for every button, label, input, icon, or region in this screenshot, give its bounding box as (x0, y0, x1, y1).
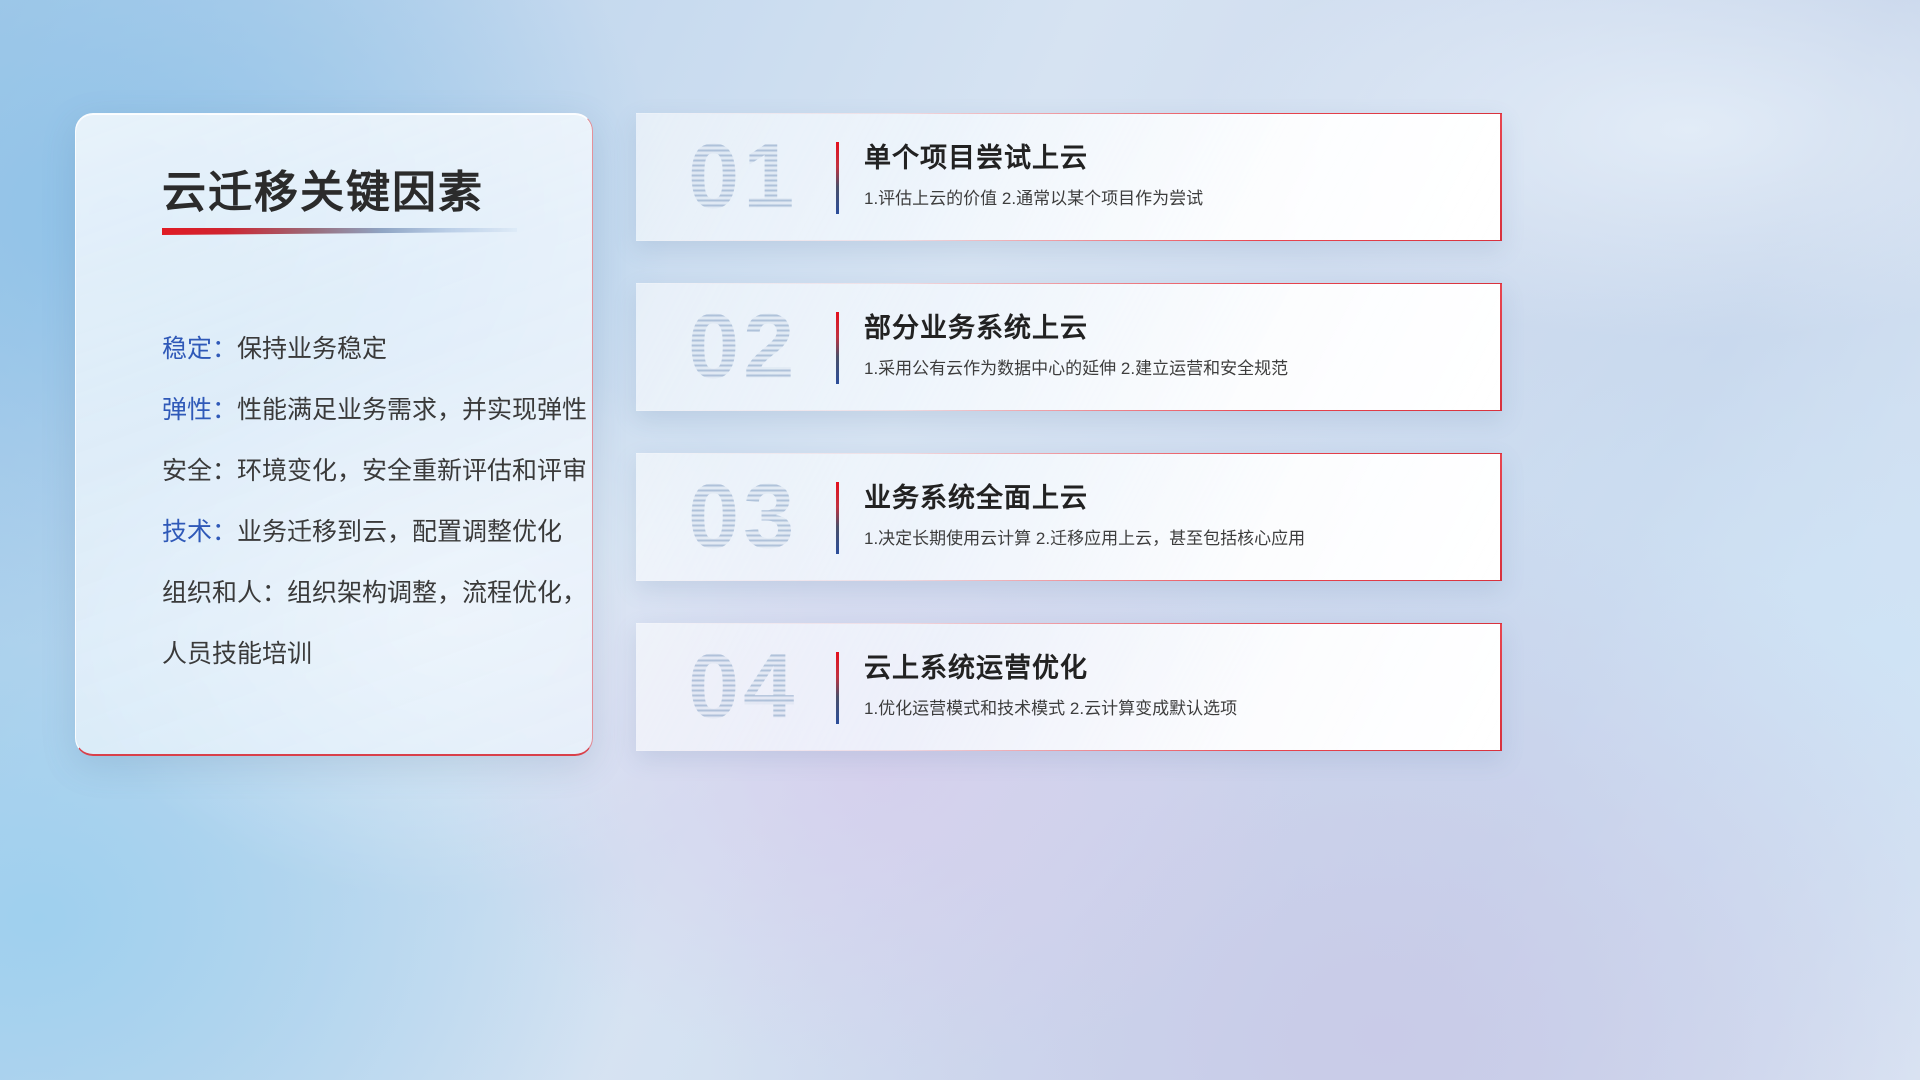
factor-item: 稳定：保持业务稳定 (76, 319, 592, 380)
step-number-watermark: 04 (688, 635, 798, 740)
step-card[interactable]: 0303业务系统全面上云1.决定长期使用云计算 2.迁移应用上云，甚至包括核心应… (636, 453, 1502, 581)
migration-steps-list: 0101单个项目尝试上云1.评估上云的价值 2.通常以某个项目作为尝试0202部… (636, 113, 1502, 793)
step-description: 1.采用公有云作为数据中心的延伸 2.建立运营和安全规范 (864, 356, 1478, 382)
factor-text: 环境变化，安全重新评估和评审 (237, 457, 587, 485)
step-text-block: 业务系统全面上云1.决定长期使用云计算 2.迁移应用上云，甚至包括核心应用 (864, 478, 1478, 552)
factor-item: 组织和人：组织架构调整，流程优化， (76, 563, 592, 624)
step-number-watermark: 01 (688, 125, 798, 230)
step-heading: 业务系统全面上云 (864, 478, 1478, 518)
accent-bar (836, 482, 839, 554)
factor-text: 性能满足业务需求，并实现弹性 (237, 396, 587, 424)
factor-text: 组织架构调整，流程优化， (287, 579, 587, 607)
step-description: 1.决定长期使用云计算 2.迁移应用上云，甚至包括核心应用 (864, 526, 1478, 552)
key-factors-panel: 云迁移关键因素 稳定：保持业务稳定弹性：性能满足业务需求，并实现弹性安全：环境变… (75, 113, 593, 756)
factor-label: 组织和人： (162, 579, 287, 607)
accent-bar (836, 312, 839, 384)
factor-list: 稳定：保持业务稳定弹性：性能满足业务需求，并实现弹性安全：环境变化，安全重新评估… (76, 319, 592, 685)
factor-item: 安全：环境变化，安全重新评估和评审 (76, 441, 592, 502)
step-number-watermark-backdrop: 03 (688, 465, 798, 570)
step-card[interactable]: 0101单个项目尝试上云1.评估上云的价值 2.通常以某个项目作为尝试 (636, 113, 1502, 241)
step-text-block: 云上系统运营优化1.优化运营模式和技术模式 2.云计算变成默认选项 (864, 648, 1478, 722)
page-title: 云迁移关键因素 (162, 156, 484, 220)
step-description: 1.优化运营模式和技术模式 2.云计算变成默认选项 (864, 696, 1478, 722)
factor-label: 弹性： (162, 396, 237, 424)
factor-item: 技术：业务迁移到云，配置调整优化 (76, 502, 592, 563)
step-card[interactable]: 0404云上系统运营优化1.优化运营模式和技术模式 2.云计算变成默认选项 (636, 623, 1502, 751)
step-text-block: 单个项目尝试上云1.评估上云的价值 2.通常以某个项目作为尝试 (864, 138, 1478, 212)
accent-bar (836, 142, 839, 214)
step-number-watermark-backdrop: 04 (688, 635, 798, 740)
factor-item: 弹性：性能满足业务需求，并实现弹性 (76, 380, 592, 441)
step-number-watermark: 02 (688, 295, 798, 400)
factor-text: 业务迁移到云，配置调整优化 (237, 518, 562, 546)
factor-label: 安全： (162, 457, 237, 485)
factor-item: 人员技能培训 (76, 624, 592, 685)
step-number-watermark: 03 (688, 465, 798, 570)
factor-text: 保持业务稳定 (237, 335, 387, 363)
step-heading: 单个项目尝试上云 (864, 138, 1478, 178)
step-card[interactable]: 0202部分业务系统上云1.采用公有云作为数据中心的延伸 2.建立运营和安全规范 (636, 283, 1502, 411)
step-heading: 部分业务系统上云 (864, 308, 1478, 348)
step-number-watermark-backdrop: 01 (688, 125, 798, 230)
step-heading: 云上系统运营优化 (864, 648, 1478, 688)
factor-label: 技术： (162, 518, 237, 546)
accent-bar (836, 652, 839, 724)
step-number-watermark-backdrop: 02 (688, 295, 798, 400)
factor-label: 稳定： (162, 335, 237, 363)
step-text-block: 部分业务系统上云1.采用公有云作为数据中心的延伸 2.建立运营和安全规范 (864, 308, 1478, 382)
title-underline-gradient (162, 228, 517, 235)
step-description: 1.评估上云的价值 2.通常以某个项目作为尝试 (864, 186, 1478, 212)
factor-text: 人员技能培训 (162, 640, 312, 668)
